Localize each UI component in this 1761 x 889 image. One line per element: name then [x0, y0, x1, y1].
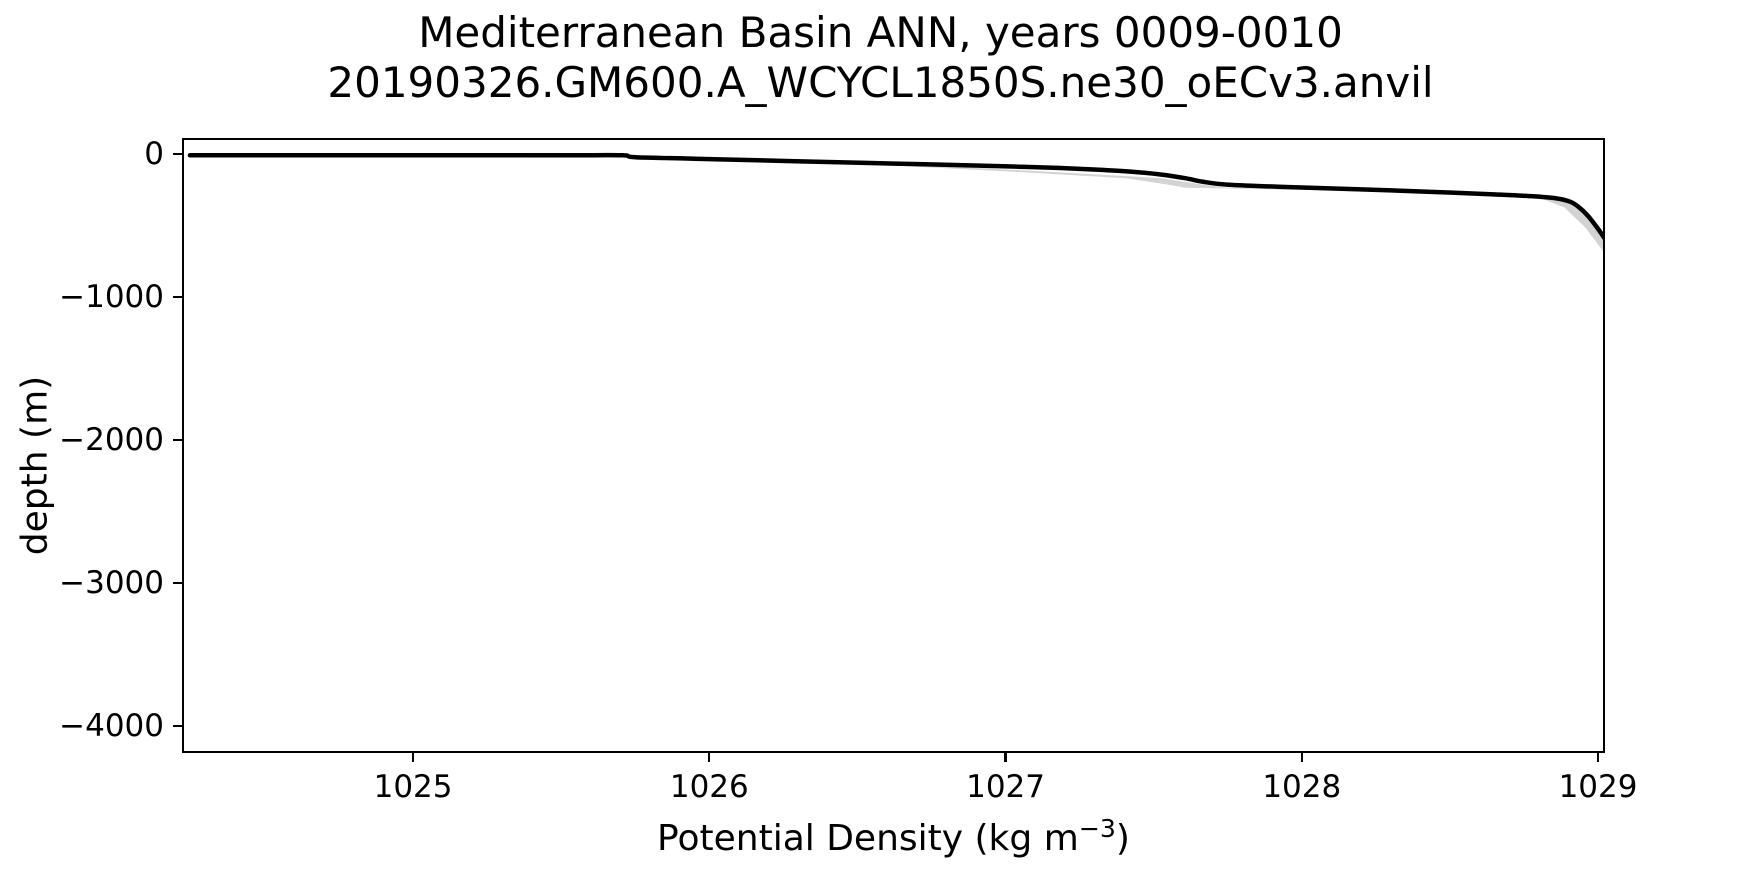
density-profile-line — [190, 155, 1603, 748]
x-axis-label-prefix: Potential Density (kg m — [657, 818, 1079, 859]
y-tick-mark — [173, 296, 182, 298]
profile-line-group — [190, 155, 1603, 748]
y-tick-mark — [173, 153, 182, 155]
x-tick-mark — [412, 753, 414, 762]
plot-area — [182, 138, 1605, 753]
x-tick-label: 1029 — [1559, 769, 1638, 805]
y-axis-label: depth (m) — [15, 186, 56, 746]
x-tick-mark — [708, 753, 710, 762]
y-tick-mark — [173, 439, 182, 441]
y-tick-label: 0 — [144, 136, 164, 172]
y-tick-label: −4000 — [59, 708, 164, 744]
chart-title-line-2: 20190326.GM600.A_WCYCL1850S.ne30_oECv3.a… — [0, 58, 1761, 108]
figure-canvas: Mediterranean Basin ANN, years 0009-0010… — [0, 0, 1761, 889]
chart-title-line-1: Mediterranean Basin ANN, years 0009-0010 — [0, 8, 1761, 58]
x-axis-label: Potential Density (kg m−3) — [182, 818, 1605, 859]
y-tick-mark — [173, 725, 182, 727]
uncertainty-band — [190, 155, 1603, 748]
uncertainty-band-group — [190, 155, 1603, 748]
x-tick-mark — [1004, 753, 1006, 762]
x-tick-label: 1026 — [670, 769, 749, 805]
x-tick-label: 1027 — [966, 769, 1045, 805]
profile-plot-svg — [184, 140, 1603, 751]
x-tick-mark — [1301, 753, 1303, 762]
x-tick-label: 1025 — [374, 769, 453, 805]
y-tick-mark — [173, 582, 182, 584]
x-tick-label: 1028 — [1262, 769, 1341, 805]
y-tick-label: −3000 — [59, 565, 164, 601]
x-axis-label-suffix: ) — [1116, 818, 1130, 859]
x-axis-label-exponent: −3 — [1079, 814, 1116, 843]
chart-title: Mediterranean Basin ANN, years 0009-0010… — [0, 8, 1761, 107]
x-tick-mark — [1597, 753, 1599, 762]
y-tick-label: −1000 — [59, 279, 164, 315]
y-tick-label: −2000 — [59, 422, 164, 458]
